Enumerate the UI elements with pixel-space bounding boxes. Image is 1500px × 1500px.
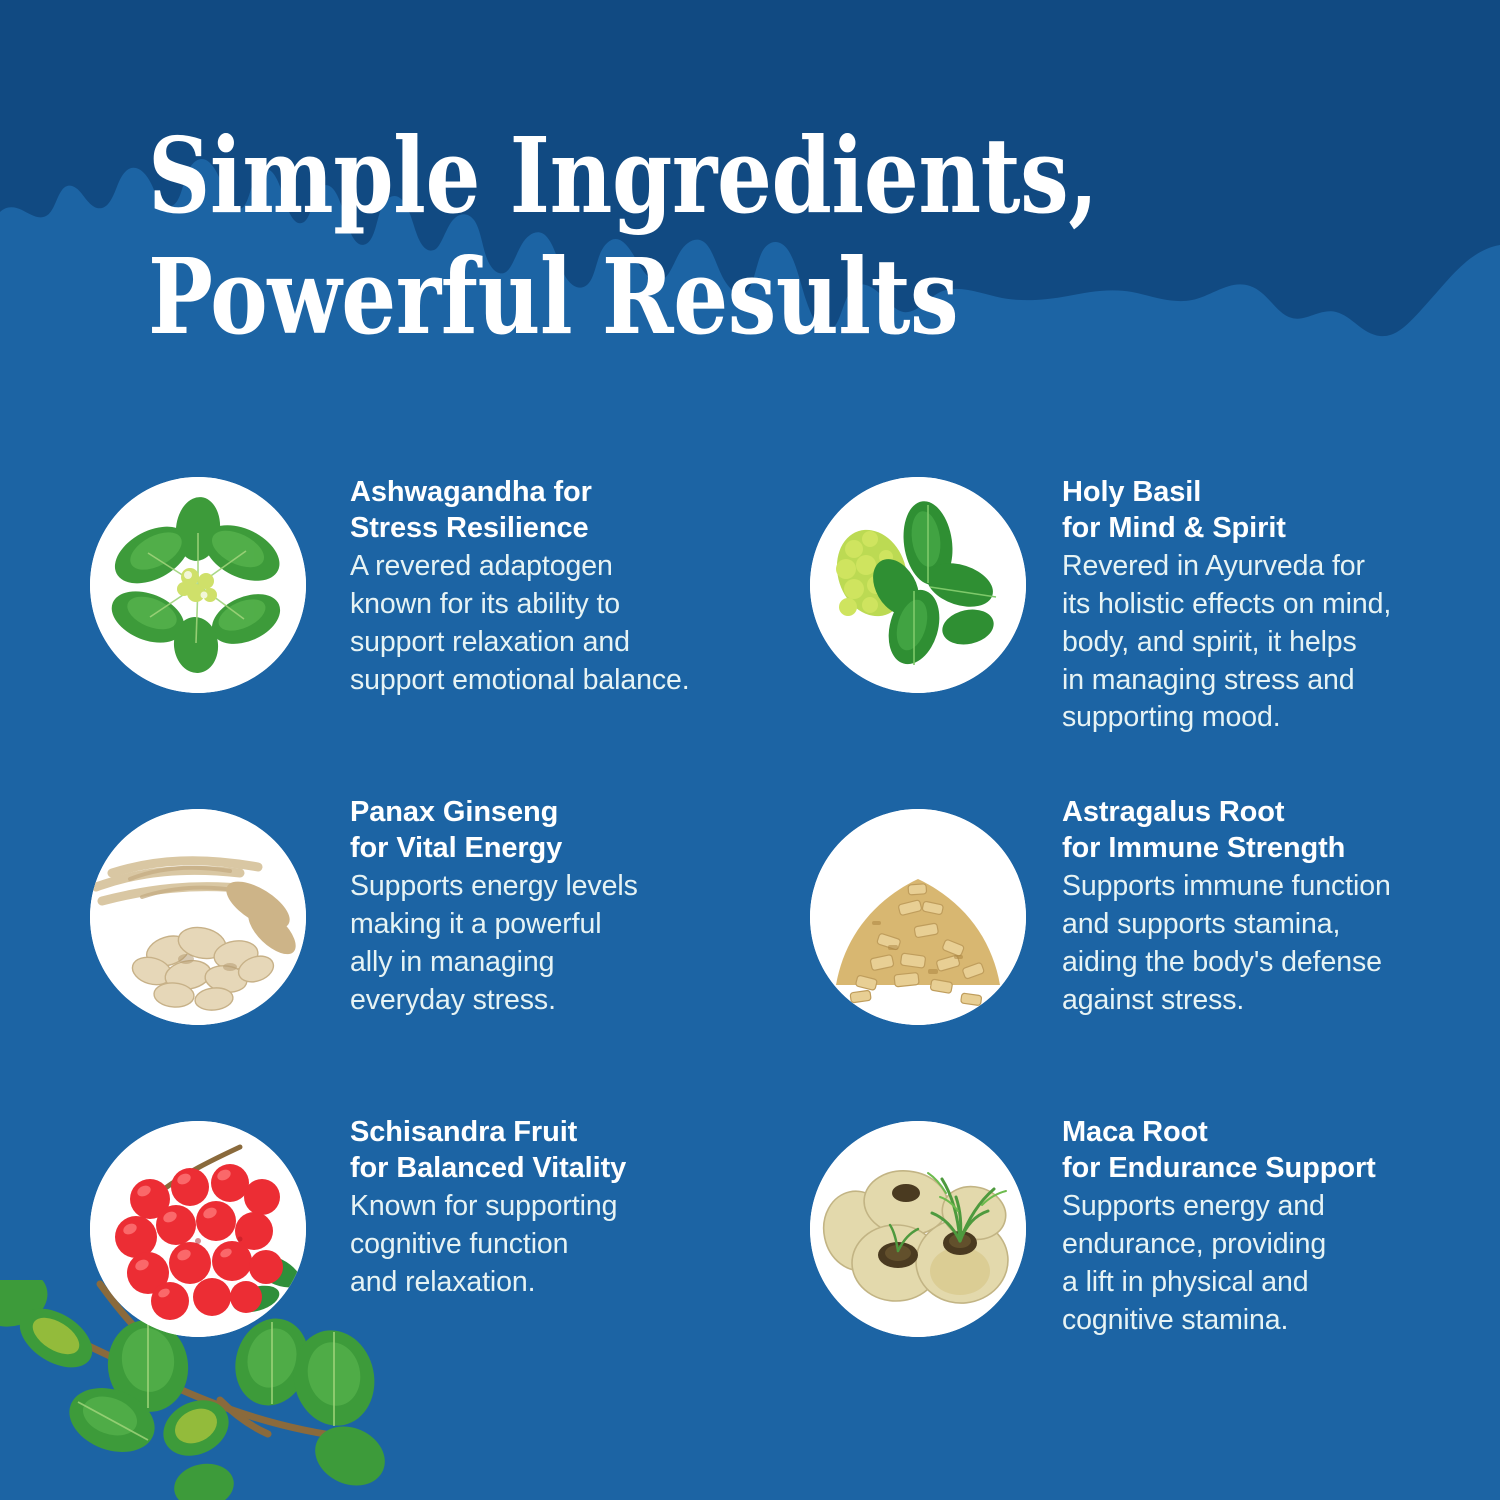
title-line-1: Simple Ingredients,: [148, 116, 1270, 237]
maca-root-photo-icon: [810, 1121, 1026, 1337]
ingredients-infographic: Simple Ingredients, Powerful Results: [0, 0, 1500, 1500]
ingredient-title: Panax Ginseng for Vital Energy: [350, 795, 638, 867]
ingredient-grid: Ashwagandha for Stress Resilience A reve…: [0, 455, 1500, 1415]
page-title: Simple Ingredients, Powerful Results: [0, 0, 1500, 357]
ingredient-copy: Holy Basil for Mind & Spirit Revered in …: [1062, 455, 1391, 737]
ingredient-copy: Maca Root for Endurance Support Supports…: [1062, 1095, 1376, 1339]
ingredient-copy: Astragalus Root for Immune Strength Supp…: [1062, 775, 1391, 1019]
ingredient-description: Revered in Ayurveda for its holistic eff…: [1062, 548, 1391, 737]
ingredient-title: Holy Basil for Mind & Spirit: [1062, 475, 1391, 547]
ingredient-title: Schisandra Fruit for Balanced Vitality: [350, 1115, 626, 1187]
ingredient-item-ashwagandha: Ashwagandha for Stress Resilience A reve…: [90, 455, 780, 775]
ingredient-item-maca-root: Maca Root for Endurance Support Supports…: [810, 1095, 1500, 1415]
ingredient-description: Supports immune function and supports st…: [1062, 868, 1391, 1020]
ingredient-item-holy-basil: Holy Basil for Mind & Spirit Revered in …: [810, 455, 1500, 775]
ingredient-description: Supports energy and endurance, providing…: [1062, 1188, 1376, 1340]
ingredient-description: Known for supporting cognitive function …: [350, 1188, 626, 1302]
ingredient-copy: Panax Ginseng for Vital Energy Supports …: [350, 775, 638, 1019]
ingredient-item-schisandra-fruit: Schisandra Fruit for Balanced Vitality K…: [90, 1095, 780, 1415]
holy-basil-photo-icon: [810, 477, 1026, 693]
ingredient-title: Astragalus Root for Immune Strength: [1062, 795, 1391, 867]
ingredient-item-astragalus-root: Astragalus Root for Immune Strength Supp…: [810, 775, 1500, 1095]
schisandra-berries-photo-icon: [90, 1121, 306, 1337]
ingredient-item-panax-ginseng: Panax Ginseng for Vital Energy Supports …: [90, 775, 780, 1095]
astragalus-root-photo-icon: [810, 809, 1026, 1025]
ingredient-title: Maca Root for Endurance Support: [1062, 1115, 1376, 1187]
title-line-2: Powerful Results: [148, 237, 1270, 358]
ingredient-description: A revered adaptogen known for its abilit…: [350, 548, 690, 700]
ingredient-copy: Ashwagandha for Stress Resilience A reve…: [350, 455, 690, 699]
panax-ginseng-root-photo-icon: [90, 809, 306, 1025]
ingredient-copy: Schisandra Fruit for Balanced Vitality K…: [350, 1095, 626, 1302]
ingredient-title: Ashwagandha for Stress Resilience: [350, 475, 690, 547]
ashwagandha-plant-photo-icon: [90, 477, 306, 693]
ingredient-description: Supports energy levels making it a power…: [350, 868, 638, 1020]
